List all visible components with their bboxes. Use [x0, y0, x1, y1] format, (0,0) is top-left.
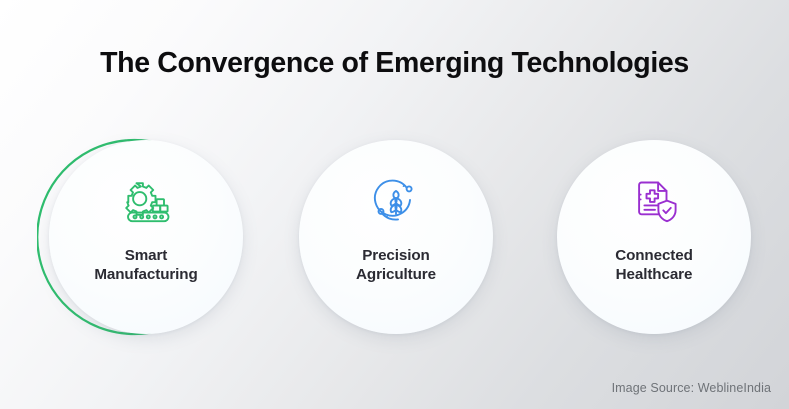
medical-record-shield-icon [626, 178, 682, 226]
label-line-1: Connected [569, 246, 739, 265]
feature-card-precision-agriculture[interactable]: Precision Agriculture [287, 128, 505, 346]
feature-disc: Precision Agriculture [299, 140, 493, 334]
feature-card-row: Smart Manufacturing [0, 128, 789, 346]
gear-conveyor-icon [118, 178, 174, 226]
feature-card-label: Precision Agriculture [311, 246, 481, 284]
page-title: The Convergence of Emerging Technologies [0, 47, 789, 80]
infographic-canvas: The Convergence of Emerging Technologies [0, 0, 789, 409]
feature-card-label: Smart Manufacturing [61, 246, 231, 284]
label-line-2: Agriculture [311, 265, 481, 284]
image-source-credit: Image Source: WeblineIndia [612, 381, 771, 395]
wheat-orbit-icon [368, 178, 424, 226]
feature-card-connected-healthcare[interactable]: Connected Healthcare [545, 128, 763, 346]
feature-disc: Smart Manufacturing [49, 140, 243, 334]
label-line-1: Precision [311, 246, 481, 265]
label-line-2: Manufacturing [61, 265, 231, 284]
feature-card-smart-manufacturing[interactable]: Smart Manufacturing [37, 128, 255, 346]
label-line-2: Healthcare [569, 265, 739, 284]
feature-disc: Connected Healthcare [557, 140, 751, 334]
label-line-1: Smart [61, 246, 231, 265]
feature-card-label: Connected Healthcare [569, 246, 739, 284]
